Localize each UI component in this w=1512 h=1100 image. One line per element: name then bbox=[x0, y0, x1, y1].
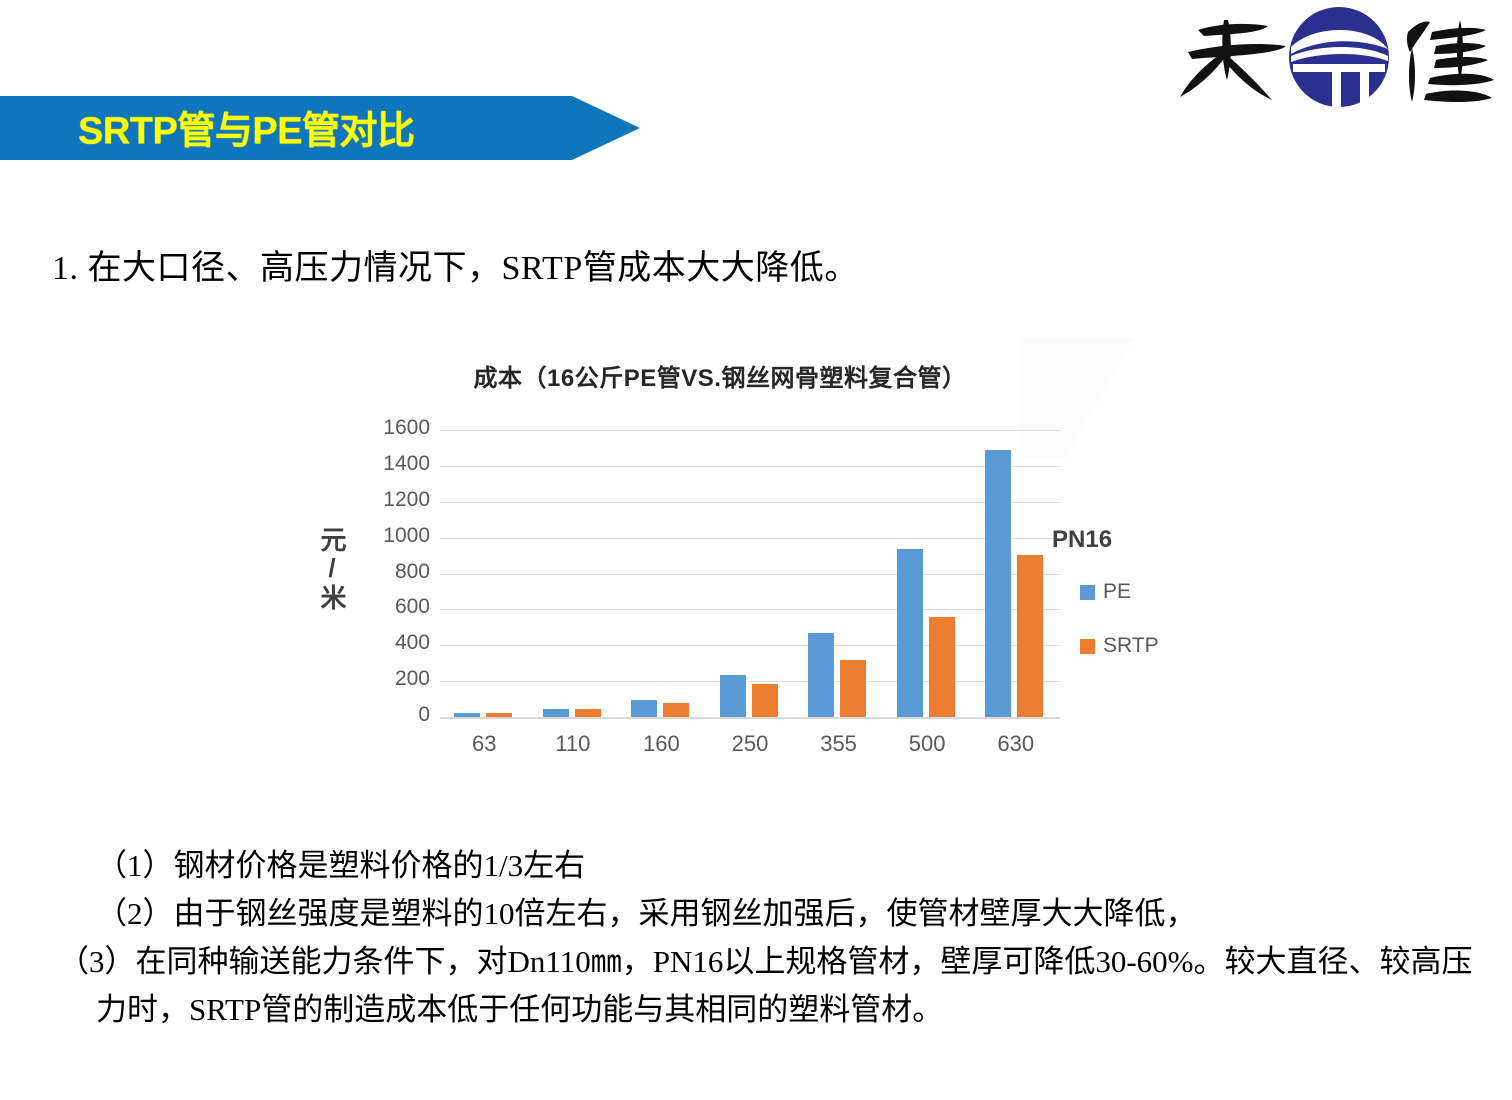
chart-legend: PN16 PE SRTP bbox=[1052, 526, 1159, 688]
company-logo bbox=[1164, 2, 1494, 107]
legend-swatch-srtp bbox=[1080, 639, 1095, 654]
chart-bar-pe bbox=[720, 675, 746, 717]
legend-label-pe: PE bbox=[1103, 580, 1131, 604]
chart-bar-pe bbox=[985, 450, 1011, 717]
chart-gridline bbox=[440, 717, 1060, 719]
chart-y-tick-label: 1000 bbox=[383, 524, 430, 548]
chart-y-tick-label: 1200 bbox=[383, 488, 430, 512]
chart-x-tick-label: 110 bbox=[529, 731, 618, 757]
logo-emblem bbox=[1289, 7, 1389, 107]
chart-category-group: 630 bbox=[971, 430, 1060, 717]
chart-plot-area: 1600140012001000800600400200063110160250… bbox=[440, 430, 1060, 717]
legend-item-pe: PE bbox=[1080, 580, 1159, 604]
notes-block: （1）钢材价格是塑料价格的1/3左右 （2）由于钢丝强度是塑料的10倍左右，采用… bbox=[58, 842, 1478, 1034]
note-line-1: （1）钢材价格是塑料价格的1/3左右 bbox=[58, 842, 1478, 890]
logo-char-jian bbox=[1407, 20, 1494, 102]
chart-y-tick-label: 800 bbox=[395, 560, 430, 584]
chart-y-tick-label: 0 bbox=[418, 703, 430, 727]
legend-swatch-pe bbox=[1080, 585, 1095, 600]
chart-bar-srtp bbox=[663, 703, 689, 717]
chart-x-tick-label: 355 bbox=[794, 731, 883, 757]
chart-x-tick-label: 160 bbox=[617, 731, 706, 757]
legend-item-srtp: SRTP bbox=[1080, 634, 1159, 658]
chart-x-tick-label: 250 bbox=[706, 731, 795, 757]
chart-bar-pe bbox=[897, 549, 923, 717]
lead-statement: 1. 在大口径、高压力情况下，SRTP管成本大大降低。 bbox=[52, 240, 859, 289]
chart-y-tick-label: 400 bbox=[395, 631, 430, 655]
chart-bar-srtp bbox=[575, 709, 601, 717]
chart-bar-pe bbox=[631, 700, 657, 717]
chart-category-group: 250 bbox=[706, 430, 795, 717]
chart-y-tick-label: 1600 bbox=[383, 416, 430, 440]
logo-char-tian bbox=[1180, 20, 1286, 100]
chart-category-group: 355 bbox=[794, 430, 883, 717]
chart-bar-srtp bbox=[486, 713, 512, 717]
chart-bar-pe bbox=[454, 713, 480, 717]
chart-y-tick-label: 600 bbox=[395, 595, 430, 619]
chart-x-tick-label: 630 bbox=[971, 731, 1060, 757]
note-line-2: （2）由于钢丝强度是塑料的10倍左右，采用钢丝加强后，使管材壁厚大大降低， bbox=[58, 890, 1478, 938]
note-line-3: （3）在同种输送能力条件下，对Dn110㎜，PN16以上规格管材，壁厚可降低30… bbox=[58, 938, 1478, 1034]
chart-bar-pe bbox=[808, 633, 834, 717]
chart-category-group: 500 bbox=[883, 430, 972, 717]
chart-category-group: 63 bbox=[440, 430, 529, 717]
chart-category-group: 110 bbox=[529, 430, 618, 717]
chart-bar-srtp bbox=[752, 684, 778, 717]
chart-bar-srtp bbox=[1017, 555, 1043, 717]
chart-x-tick-label: 63 bbox=[440, 731, 529, 757]
chart-y-axis-label: 元/米 bbox=[314, 526, 351, 611]
legend-title: PN16 bbox=[1052, 526, 1159, 554]
chart-bar-srtp bbox=[840, 660, 866, 717]
chart-x-tick-label: 500 bbox=[883, 731, 972, 757]
cost-comparison-chart: 成本（16公斤PE管VS.钢丝网骨塑料复合管） 元/米 160014001200… bbox=[300, 330, 1140, 780]
chart-bar-pe bbox=[543, 709, 569, 717]
chart-y-tick-label: 200 bbox=[395, 667, 430, 691]
chart-y-tick-label: 1400 bbox=[383, 452, 430, 476]
banner-title: SRTP管与PE管对比 bbox=[78, 99, 415, 154]
chart-bar-srtp bbox=[929, 617, 955, 717]
legend-label-srtp: SRTP bbox=[1103, 634, 1159, 658]
section-title-banner: SRTP管与PE管对比 bbox=[0, 96, 640, 160]
chart-category-group: 160 bbox=[617, 430, 706, 717]
chart-title: 成本（16公斤PE管VS.钢丝网骨塑料复合管） bbox=[300, 358, 1140, 393]
